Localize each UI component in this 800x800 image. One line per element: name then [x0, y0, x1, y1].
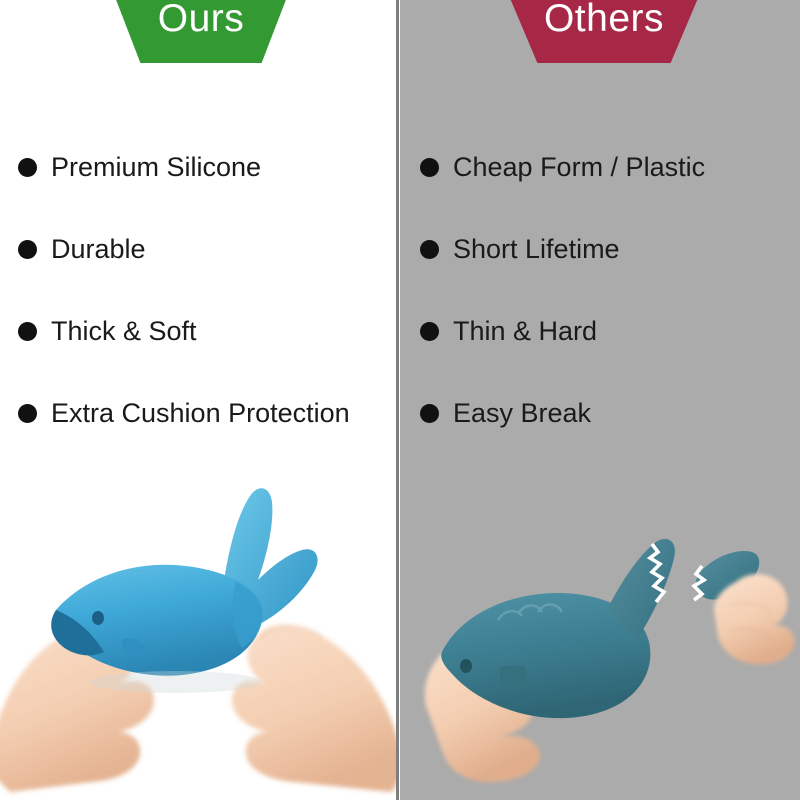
bullet-icon — [18, 240, 37, 259]
bullet-icon — [420, 322, 439, 341]
bullet-icon — [420, 404, 439, 423]
ours-banner-label: Ours — [158, 0, 245, 41]
feature-label: Short Lifetime — [453, 234, 620, 264]
right-hand — [232, 625, 396, 792]
feature-label: Thick & Soft — [51, 316, 197, 346]
column-divider — [396, 0, 399, 800]
bullet-icon — [18, 158, 37, 177]
feature-label: Easy Break — [453, 398, 591, 428]
ours-feature-list: Premium Silicone Durable Thick & Soft Ex… — [18, 126, 390, 454]
feature-label: Premium Silicone — [51, 152, 261, 182]
others-banner-label: Others — [544, 0, 664, 41]
whale-eye — [460, 659, 472, 673]
whale-eye — [92, 611, 104, 625]
bullet-icon — [420, 158, 439, 177]
list-item: Cheap Form / Plastic — [420, 126, 792, 208]
list-item: Durable — [18, 208, 390, 290]
comparison-infographic: Ours Others Premium Silicone Durable Thi… — [0, 0, 800, 800]
feature-label: Cheap Form / Plastic — [453, 152, 705, 182]
others-product-photo — [400, 470, 800, 800]
blue-whale-stretch-illustration — [0, 470, 396, 800]
list-item: Easy Break — [420, 372, 792, 454]
whale-fin — [500, 666, 526, 688]
bullet-icon — [18, 404, 37, 423]
list-item: Short Lifetime — [420, 208, 792, 290]
bullet-icon — [420, 240, 439, 259]
list-item: Thin & Hard — [420, 290, 792, 372]
ours-product-photo — [0, 470, 396, 800]
list-item: Premium Silicone — [18, 126, 390, 208]
bullet-icon — [18, 322, 37, 341]
others-feature-list: Cheap Form / Plastic Short Lifetime Thin… — [420, 126, 792, 454]
feature-label: Extra Cushion Protection — [51, 398, 350, 428]
list-item: Extra Cushion Protection — [18, 372, 390, 454]
feature-label: Durable — [51, 234, 146, 264]
teal-whale-broken-illustration — [400, 470, 800, 800]
feature-label: Thin & Hard — [453, 316, 597, 346]
list-item: Thick & Soft — [18, 290, 390, 372]
